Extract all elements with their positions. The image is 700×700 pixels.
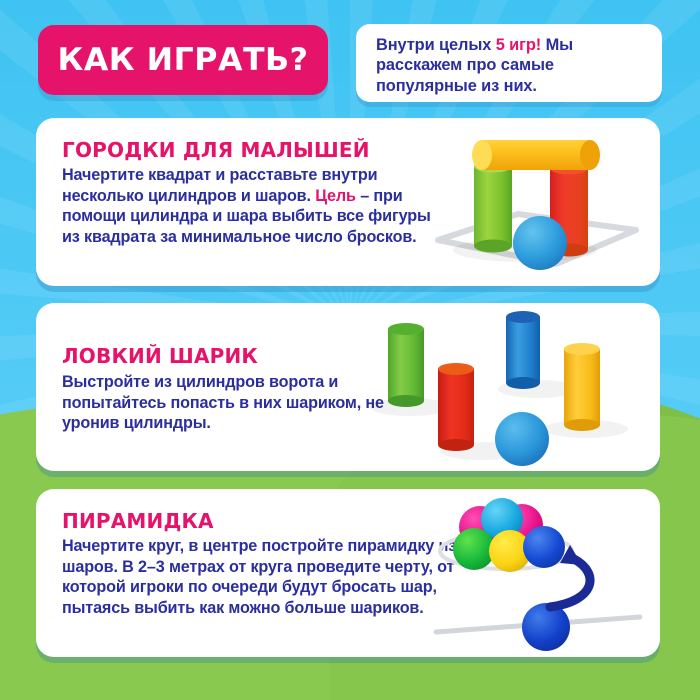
infographic-stage: Внутри целых 5 игр! Мы расскажем про сам… bbox=[0, 0, 700, 700]
card-body: Начертите круг, в центре постройте пирам… bbox=[62, 536, 472, 618]
card-body-part1: Начертите круг, в центре постройте пирам… bbox=[62, 537, 469, 617]
card-title: ГОРОДКИ ДЛЯ МАЛЫШЕЙ bbox=[62, 138, 370, 162]
gate-of-cylinders-with-ball-illustration bbox=[430, 118, 660, 286]
header-intro-text: Внутри целых 5 игр! Мы расскажем про сам… bbox=[376, 35, 648, 96]
header-intro-highlight: 5 игр! bbox=[496, 36, 541, 54]
header: Внутри целых 5 игр! Мы расскажем про сам… bbox=[0, 24, 700, 104]
how-to-play-badge-label: КАК ИГРАТЬ? bbox=[35, 25, 331, 95]
how-to-play-badge: КАК ИГРАТЬ? bbox=[38, 25, 328, 95]
card-title: ПИРАМИДКА bbox=[62, 509, 214, 533]
header-intro-part1: Внутри целых bbox=[376, 36, 496, 54]
header-intro-panel: Внутри целых 5 игр! Мы расскажем про сам… bbox=[356, 24, 662, 102]
card-body-highlight: Цель bbox=[315, 187, 356, 205]
game-card-gorodki: ГОРОДКИ ДЛЯ МАЛЫШЕЙ Начертите квадрат и … bbox=[36, 118, 660, 286]
game-card-lovkiy-sharik: ЛОВКИЙ ШАРИК Выстройте из цилиндров воро… bbox=[36, 303, 660, 471]
card-title: ЛОВКИЙ ШАРИК bbox=[62, 344, 258, 368]
game-card-piramidka: ПИРАМИДКА Начертите круг, в центре постр… bbox=[36, 489, 660, 657]
card-body: Начертите квадрат и расставьте внутри не… bbox=[62, 165, 452, 247]
card-body-part1: Выстройте из цилиндров ворота и попытайт… bbox=[62, 373, 384, 432]
card-body: Выстройте из цилиндров ворота и попытайт… bbox=[62, 372, 422, 434]
